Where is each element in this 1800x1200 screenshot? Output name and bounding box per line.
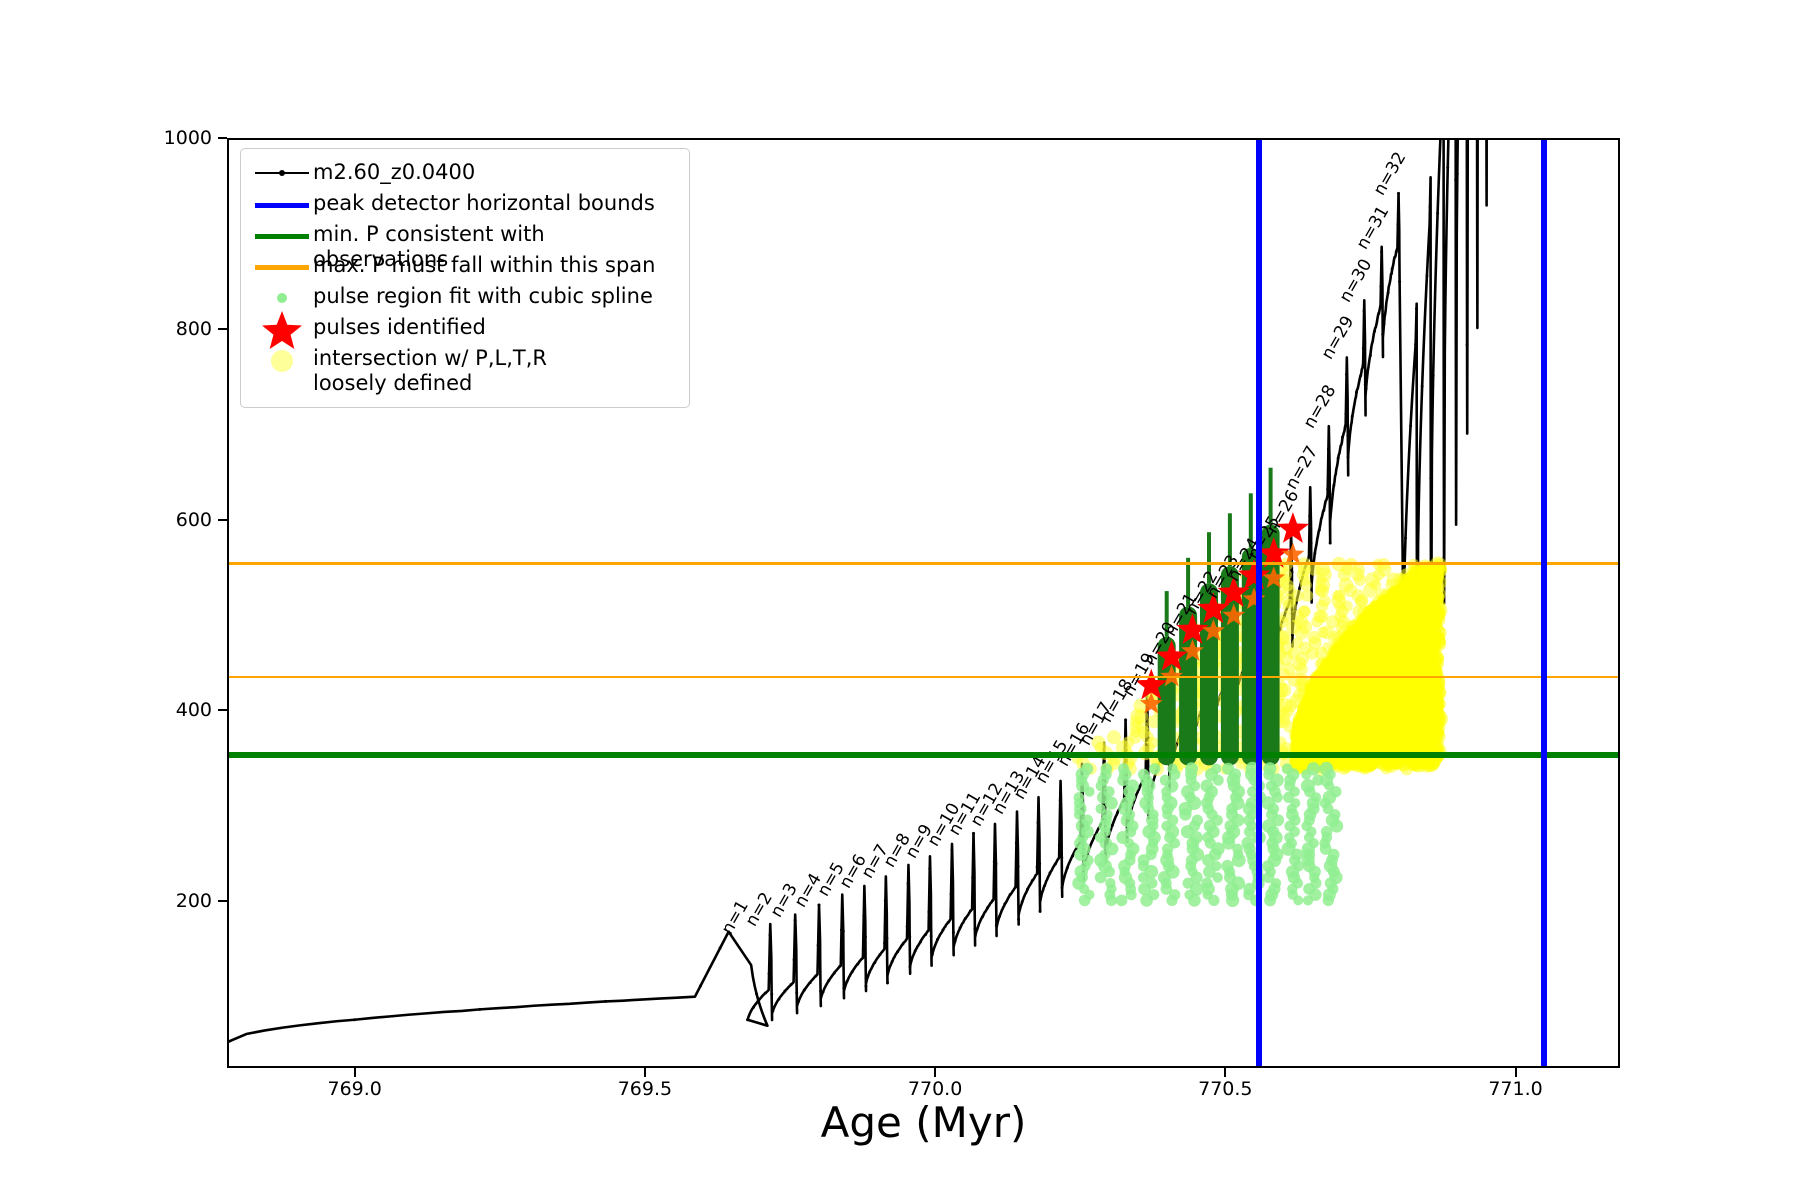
x-tick-mark: [644, 1068, 646, 1077]
y-tick-label: 600: [176, 509, 212, 531]
line-icon: [251, 251, 313, 281]
green-dot-icon: [251, 282, 313, 312]
legend-bigdot-swatch: [271, 350, 293, 372]
y-tick-label: 200: [176, 890, 212, 912]
x-tick-mark: [1515, 1068, 1517, 1077]
legend-line-swatch: [255, 234, 309, 239]
x-tick-mark: [934, 1068, 936, 1077]
legend-dot-swatch: [277, 293, 287, 303]
x-tick-label: 769.5: [618, 1078, 672, 1100]
legend-entry-6[interactable]: intersection w/ P,L,T,R loosely defined: [251, 344, 679, 396]
legend-entry-1[interactable]: peak detector horizontal bounds: [251, 189, 679, 220]
figure-canvas: n=1n=2n=3n=4n=5n=6n=7n=8n=9n=10n=11n=12n…: [0, 0, 1800, 1200]
x-tick-mark: [1224, 1068, 1226, 1077]
x-tick-label: 771.0: [1488, 1078, 1542, 1100]
line-dot-icon: [251, 158, 313, 188]
y-tick-label: 400: [176, 699, 212, 721]
yellow-dot-icon: [251, 344, 313, 374]
legend-entry-label: max. P must fall within this span: [313, 251, 655, 278]
x-tick-label: 770.5: [1198, 1078, 1252, 1100]
legend-entry-label: m2.60_z0.0400: [313, 158, 475, 185]
legend-entry-0[interactable]: m2.60_z0.0400: [251, 158, 679, 189]
legend-point-swatch: [279, 170, 285, 176]
line-icon: [251, 220, 313, 250]
min-period-line: [229, 752, 1618, 758]
legend-line-swatch: [255, 203, 309, 208]
y-tick-label: 1000: [164, 127, 212, 149]
x-tick-label: 769.0: [327, 1078, 381, 1100]
y-tick-mark: [218, 519, 227, 521]
red-star-icon: [251, 313, 313, 343]
legend-entry-2[interactable]: min. P consistent with observations: [251, 220, 679, 251]
legend-entry-label: pulse region fit with cubic spline: [313, 282, 653, 309]
legend-entry-label: peak detector horizontal bounds: [313, 189, 655, 216]
x-tick-mark: [354, 1068, 356, 1077]
peak-detector-bound-1: [1541, 140, 1547, 1066]
x-tick-label: 770.0: [908, 1078, 962, 1100]
y-tick-label: 800: [176, 318, 212, 340]
peak-detector-bound-0: [1256, 140, 1262, 1066]
x-axis-title: Age (Myr): [227, 1098, 1620, 1147]
legend-entry-4[interactable]: pulse region fit with cubic spline: [251, 282, 679, 313]
y-tick-mark: [218, 328, 227, 330]
legend-box[interactable]: m2.60_z0.0400peak detector horizontal bo…: [240, 148, 690, 408]
y-tick-mark: [218, 900, 227, 902]
legend-line-swatch: [255, 265, 309, 270]
max-period-bound-line-1: [229, 562, 1618, 565]
legend-entry-label: intersection w/ P,L,T,R loosely defined: [313, 344, 547, 396]
max-period-bound-line-0: [229, 676, 1618, 679]
y-tick-mark: [218, 137, 227, 139]
line-icon: [251, 189, 313, 219]
legend-entry-3[interactable]: max. P must fall within this span: [251, 251, 679, 282]
legend-entry-5[interactable]: pulses identified: [251, 313, 679, 344]
y-tick-mark: [218, 709, 227, 711]
legend-entry-label: pulses identified: [313, 313, 486, 340]
